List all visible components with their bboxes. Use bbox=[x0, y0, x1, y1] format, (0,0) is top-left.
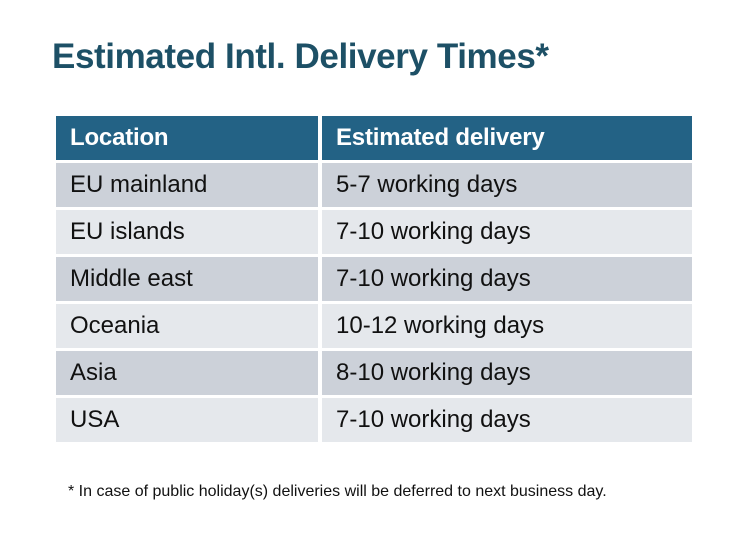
table-header: Location Estimated delivery bbox=[56, 116, 692, 160]
cell-location: Middle east bbox=[56, 257, 318, 301]
cell-delivery: 7-10 working days bbox=[322, 210, 692, 254]
column-header-location: Location bbox=[56, 116, 318, 160]
table-body: EU mainland 5-7 working days EU islands … bbox=[56, 163, 692, 442]
delivery-times-table: Location Estimated delivery EU mainland … bbox=[52, 113, 696, 445]
table-row: EU islands 7-10 working days bbox=[56, 210, 692, 254]
cell-location: EU islands bbox=[56, 210, 318, 254]
delivery-times-page: Estimated Intl. Delivery Times* Location… bbox=[0, 0, 745, 536]
cell-location: Oceania bbox=[56, 304, 318, 348]
cell-delivery: 8-10 working days bbox=[322, 351, 692, 395]
cell-delivery: 5-7 working days bbox=[322, 163, 692, 207]
cell-location: EU mainland bbox=[56, 163, 318, 207]
cell-delivery: 7-10 working days bbox=[322, 398, 692, 442]
table-row: USA 7-10 working days bbox=[56, 398, 692, 442]
cell-delivery: 10-12 working days bbox=[322, 304, 692, 348]
cell-delivery: 7-10 working days bbox=[322, 257, 692, 301]
cell-location: USA bbox=[56, 398, 318, 442]
table-row: EU mainland 5-7 working days bbox=[56, 163, 692, 207]
table-row: Asia 8-10 working days bbox=[56, 351, 692, 395]
table-row: Middle east 7-10 working days bbox=[56, 257, 692, 301]
column-header-delivery: Estimated delivery bbox=[322, 116, 692, 160]
page-title: Estimated Intl. Delivery Times* bbox=[52, 36, 549, 78]
table-header-row: Location Estimated delivery bbox=[56, 116, 692, 160]
table-row: Oceania 10-12 working days bbox=[56, 304, 692, 348]
cell-location: Asia bbox=[56, 351, 318, 395]
footnote-text: * In case of public holiday(s) deliverie… bbox=[68, 481, 607, 503]
